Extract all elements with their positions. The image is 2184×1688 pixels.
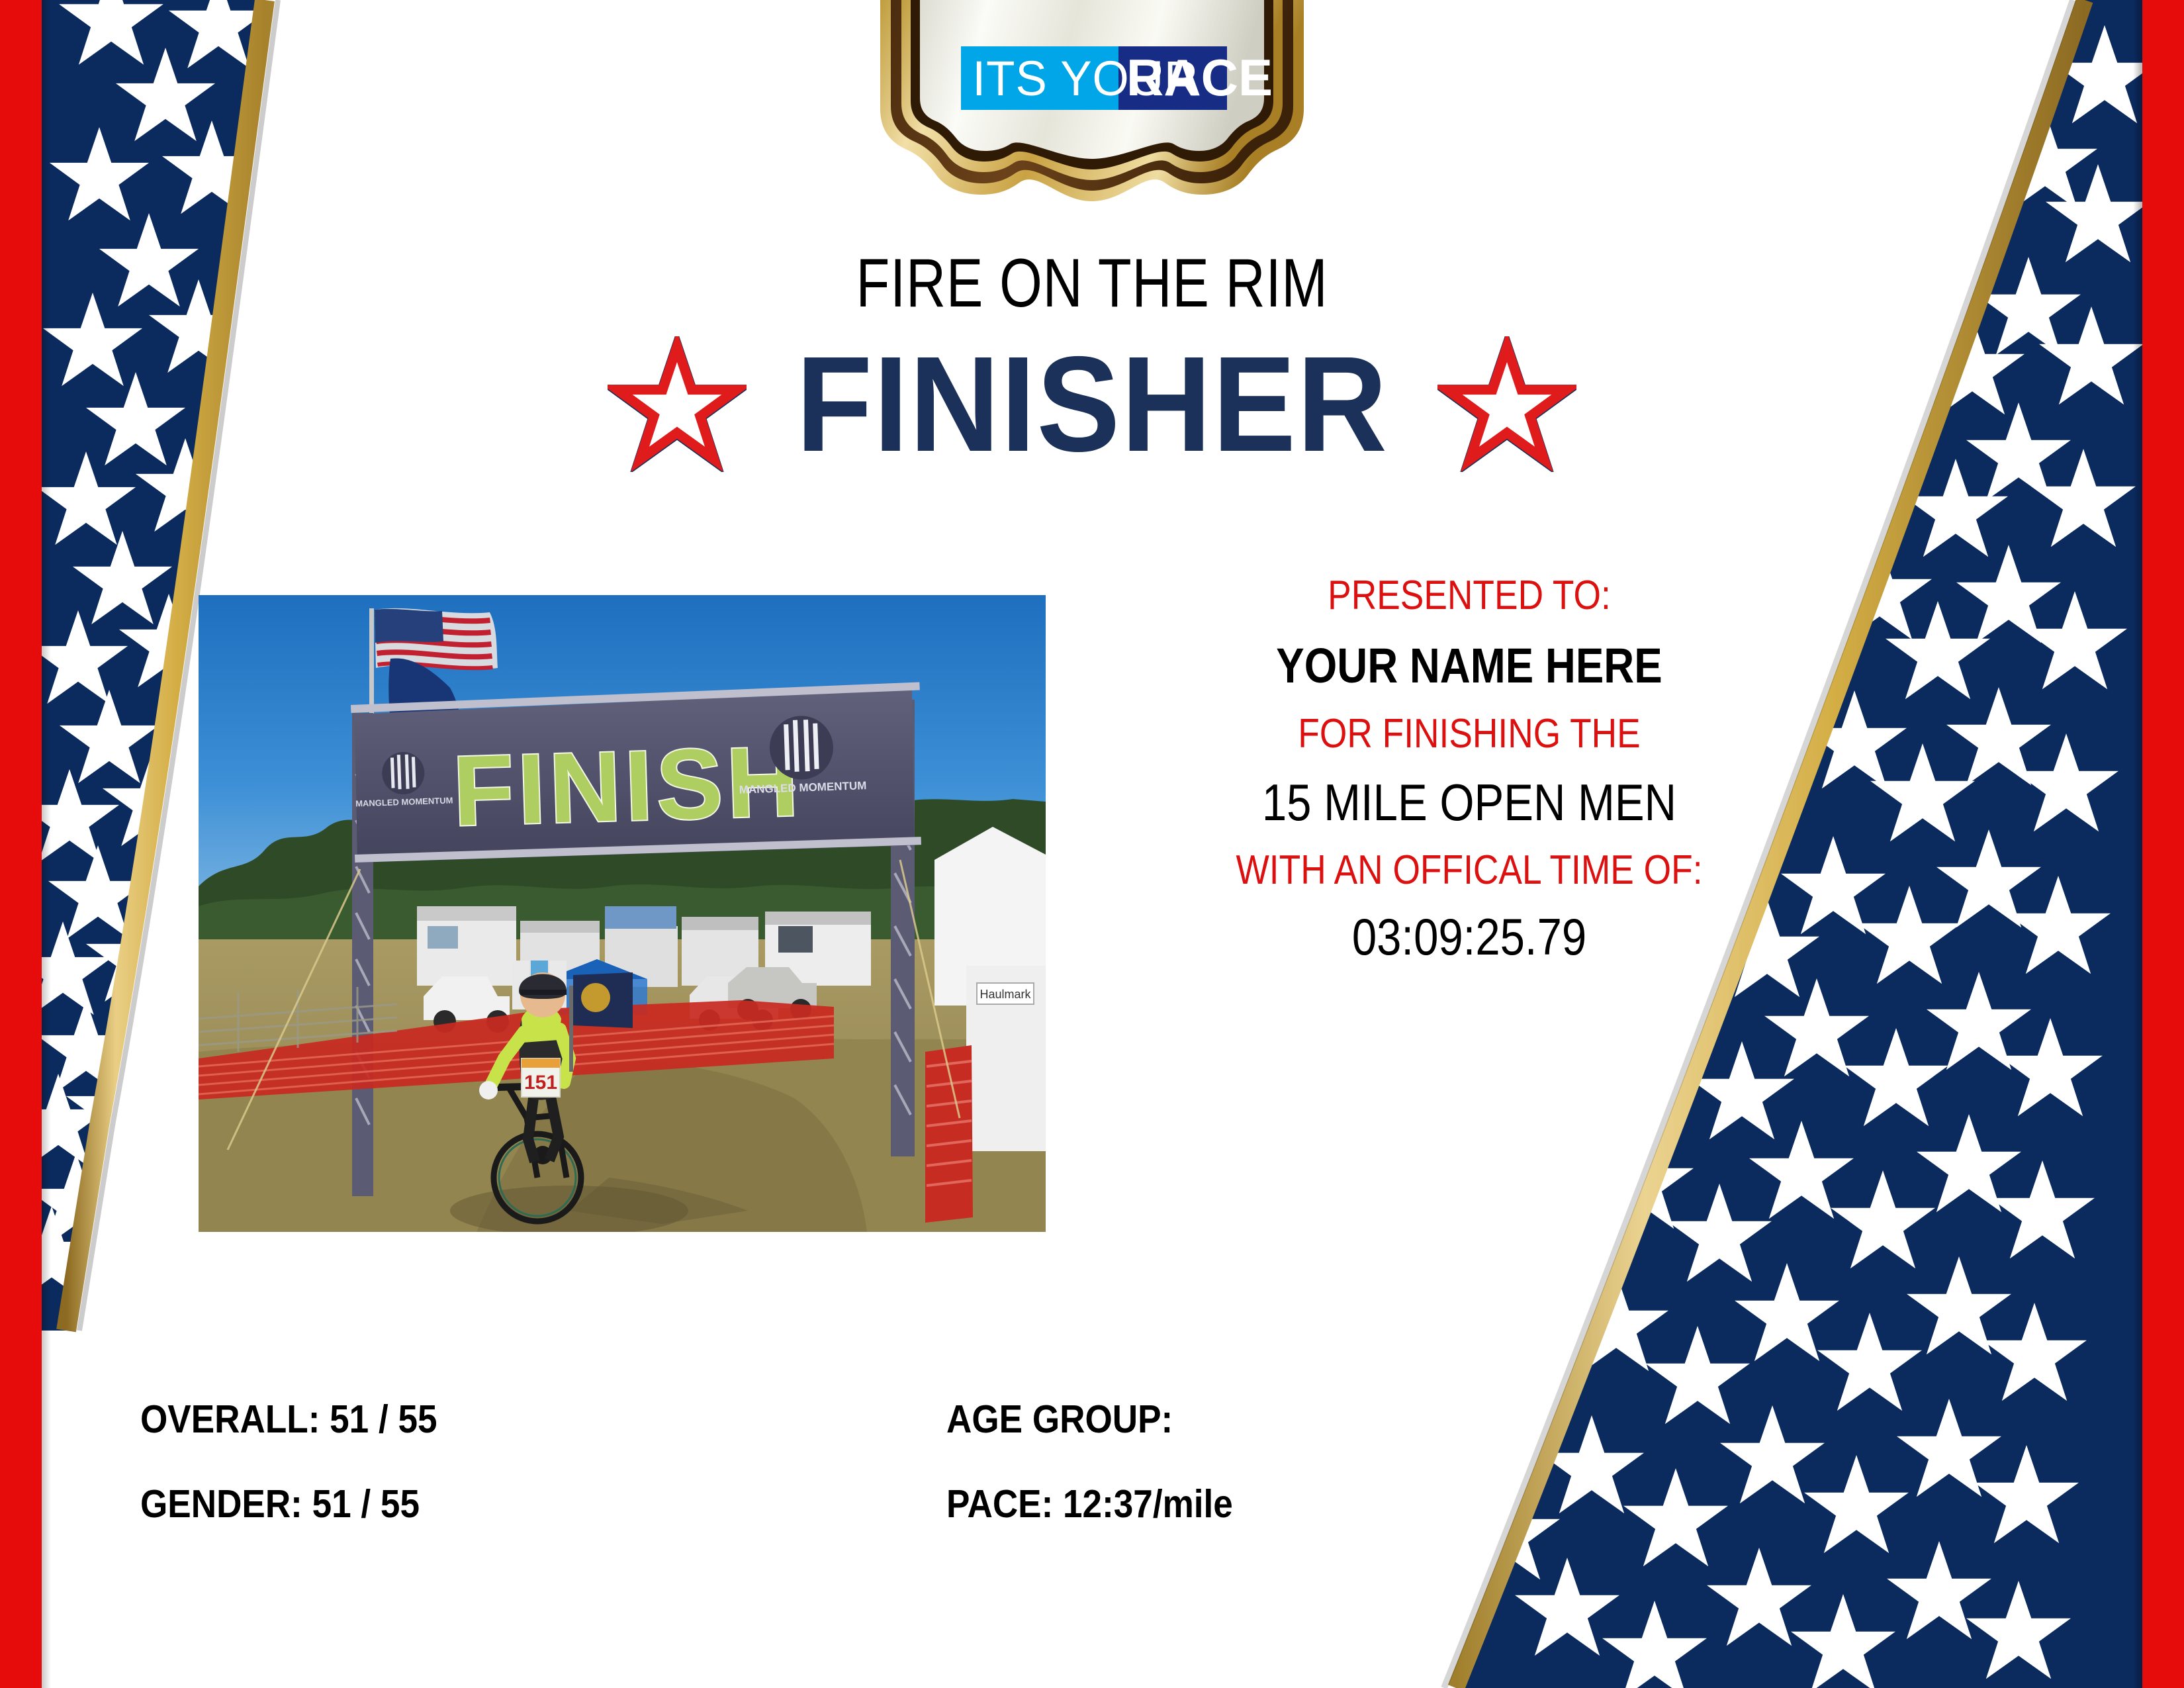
- logo-race-text: RACE: [1126, 48, 1273, 107]
- presented-to-label: PRESENTED TO:: [1142, 575, 1797, 617]
- its-your-race-logo[interactable]: ITS YOUR RACE: [868, 0, 1316, 208]
- results-stats-block: OVERALL: 51 / 55 AGE GROUP: GENDER: 51 /…: [0, 1397, 2184, 1566]
- certificate-page: ITS YOUR RACE FIRE ON THE RIM FINISHER: [0, 0, 2184, 1688]
- recipient-name: YOUR NAME HERE: [1142, 641, 1797, 692]
- headline-block: FIRE ON THE RIM FINISHER: [0, 246, 2184, 472]
- finish-line-photo: FINISH MANGLED MOMENTUM MANGLED MOMENTUM: [199, 595, 1046, 1232]
- stat-gender: GENDER: 51 / 55: [140, 1481, 420, 1526]
- trailer-label: Haulmark: [979, 988, 1031, 1001]
- certificate-text-block: PRESENTED TO: YOUR NAME HERE FOR FINISHI…: [1089, 575, 1850, 964]
- bib-number: 151: [524, 1072, 557, 1094]
- event-category: 15 MILE OPEN MEN: [1142, 776, 1797, 829]
- star-right-icon: [1437, 336, 1576, 472]
- stat-overall: OVERALL: 51 / 55: [140, 1397, 437, 1442]
- official-time-label: WITH AN OFFICAL TIME OF:: [1142, 849, 1797, 892]
- award-word: FINISHER: [796, 336, 1388, 472]
- stat-age-group: AGE GROUP:: [946, 1397, 1173, 1442]
- stat-pace: PACE: 12:37/mile: [946, 1481, 1233, 1526]
- star-left-icon: [608, 336, 747, 472]
- finisher-row: FINISHER: [0, 336, 2184, 472]
- race-title: FIRE ON THE RIM: [218, 246, 1966, 320]
- finish-time: 03:09:25.79: [1142, 910, 1797, 964]
- stats-row-2: GENDER: 51 / 55 PACE: 12:37/mile: [0, 1481, 2184, 1566]
- for-finishing-label: FOR FINISHING THE: [1142, 713, 1797, 755]
- stats-row-1: OVERALL: 51 / 55 AGE GROUP:: [0, 1397, 2184, 1481]
